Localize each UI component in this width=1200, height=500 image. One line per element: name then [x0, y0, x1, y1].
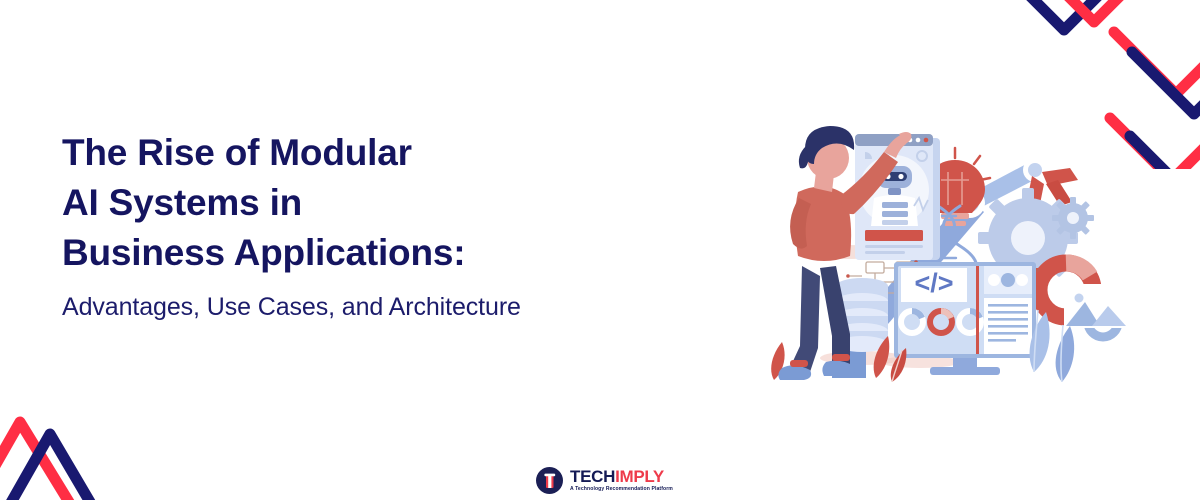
image-placeholder-card-icon: [1064, 284, 1128, 328]
techimply-logo[interactable]: TECHIMPLY A Technology Recommendation Pl…: [527, 461, 675, 500]
gear-small-icon: [1052, 197, 1094, 239]
logo-tagline: A Technology Recommendation Platform: [570, 487, 673, 492]
ai-technology-illustration: </>: [770, 110, 1142, 382]
page-subtitle: Advantages, Use Cases, and Architecture: [62, 291, 662, 323]
page-title: The Rise of Modular AI Systems in Busine…: [62, 128, 662, 278]
logo-word-primary: TECH: [570, 467, 615, 486]
techimply-wordmark: TECHIMPLY: [570, 468, 673, 485]
headline-block: The Rise of Modular AI Systems in Busine…: [62, 128, 662, 323]
svg-text:</>: </>: [914, 268, 953, 298]
blog-hero-banner: The Rise of Modular AI Systems in Busine…: [0, 0, 1200, 500]
techimply-mark-icon: [536, 467, 563, 494]
logo-word-accent: IMPLY: [615, 467, 664, 486]
chevron-pattern-bottom-left-icon: [0, 384, 184, 500]
